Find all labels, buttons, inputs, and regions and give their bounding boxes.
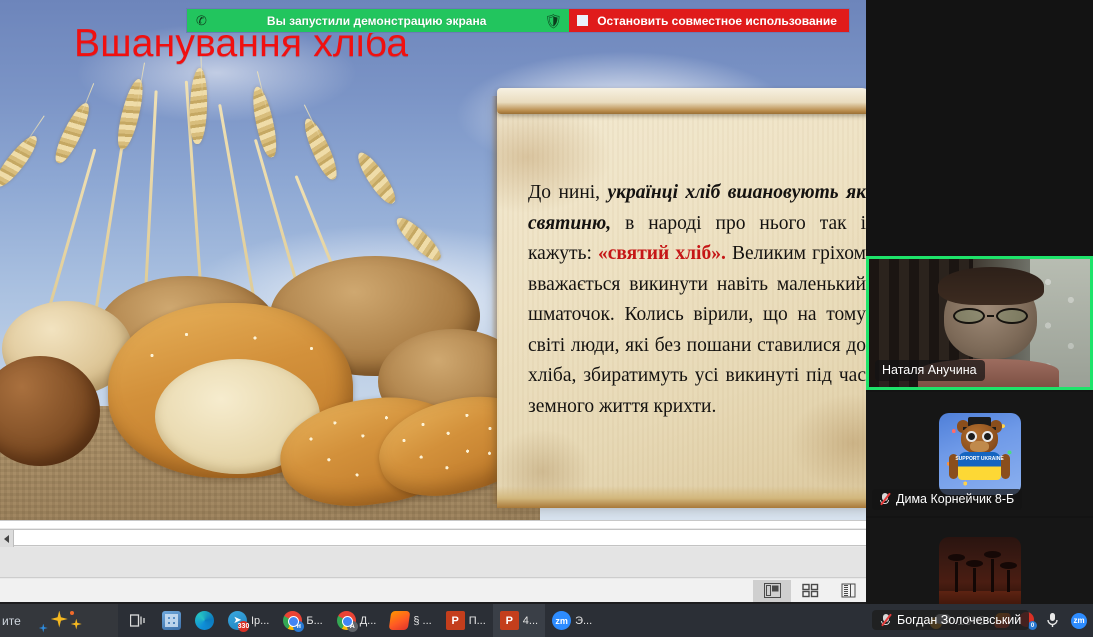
powerpoint-icon: P bbox=[500, 611, 519, 630]
normal-view-icon bbox=[764, 583, 781, 598]
parchment-bottom-edge bbox=[497, 486, 868, 508]
view-buttons bbox=[753, 580, 867, 602]
edge-icon bbox=[195, 611, 214, 630]
stop-square-icon bbox=[577, 15, 588, 26]
taskbar-item-calculator[interactable] bbox=[155, 604, 188, 637]
parchment-top-curl bbox=[497, 88, 868, 114]
calculator-icon bbox=[162, 611, 181, 630]
powerpoint-icon: P bbox=[446, 611, 465, 630]
taskbar-item-firefox[interactable]: § ... bbox=[383, 604, 438, 637]
task-view-icon bbox=[129, 611, 148, 630]
telegram-icon: 330 bbox=[228, 611, 247, 630]
reading-view-button[interactable] bbox=[829, 580, 867, 602]
slide-sorter-icon bbox=[802, 583, 819, 598]
chrome-icon: А bbox=[337, 611, 356, 630]
telegram-badge: 330 bbox=[238, 621, 249, 632]
body-run-1: До нині, bbox=[528, 182, 607, 203]
normal-view-button[interactable] bbox=[753, 580, 791, 602]
zoom-icon: zm bbox=[552, 611, 571, 630]
taskbar-item-label: Д... bbox=[360, 615, 377, 627]
floating-participant-name: Богдан Золочевський bbox=[897, 613, 1021, 627]
participant-name-badge: Дима Корнейчик 8-Б bbox=[872, 489, 1022, 510]
phone-icon: ✆ bbox=[196, 14, 207, 27]
slide-body-text: До нині, українці хліб вшановують як свя… bbox=[528, 178, 866, 422]
taskbar-app-buttons: 330 Ір... н Б... А Д... § ... bbox=[122, 604, 599, 637]
firefox-icon bbox=[389, 611, 411, 630]
body-run-4-highlight: «святий хліб». bbox=[598, 243, 726, 264]
slide-sorter-button[interactable] bbox=[791, 580, 829, 602]
taskbar-floating-participant-name: Богдан Золочевський bbox=[872, 610, 1029, 630]
taskbar-item-label: П... bbox=[469, 615, 486, 627]
taskbar-item-chrome-1[interactable]: н Б... bbox=[276, 604, 329, 637]
taskbar-item-chrome-2[interactable]: А Д... bbox=[330, 604, 384, 637]
zoom-tray-icon[interactable]: zm bbox=[1071, 613, 1087, 629]
mic-muted-icon bbox=[879, 492, 890, 506]
slide[interactable]: До нині, українці хліб вшановують як свя… bbox=[0, 0, 868, 521]
chrome-icon: н bbox=[283, 611, 302, 630]
microphone-icon[interactable] bbox=[1045, 612, 1062, 629]
notification-badge: 0 bbox=[1028, 621, 1037, 630]
popup-text: ите bbox=[0, 614, 21, 628]
zoom-participant-rail: Наталя Анучина SUPPORT UKRAINE bbox=[866, 0, 1093, 637]
chrome-badge: н bbox=[293, 621, 304, 632]
taskbar-item-label: Ір... bbox=[251, 615, 269, 627]
taskbar-item-powerpoint-1[interactable]: P П... bbox=[439, 604, 493, 637]
screen-share-toolbar: ✆ Вы запустили демонстрацию экрана 🛡 Ост… bbox=[186, 8, 850, 33]
participant-tile-2[interactable]: SUPPORT UKRAINE Дима Корнейчик 8-Б bbox=[866, 392, 1093, 516]
taskbar-item-label: 4... bbox=[523, 615, 538, 627]
fnaf-bear-support-ukraine-avatar: SUPPORT UKRAINE bbox=[939, 413, 1021, 495]
participant-name-badge: Наталя Анучина bbox=[875, 360, 985, 381]
body-run-5: Великим гріхом вважається викинути навіт… bbox=[528, 243, 866, 417]
stop-sharing-label: Остановить совместное использование bbox=[597, 14, 837, 28]
chrome-badge: А bbox=[347, 621, 358, 632]
bread-illustration bbox=[0, 226, 540, 521]
scroll-left-arrow-icon[interactable] bbox=[0, 530, 14, 547]
participant-tile-active-speaker[interactable]: Наталя Анучина bbox=[866, 256, 1093, 390]
sharing-status-pill[interactable]: ✆ Вы запустили демонстрацию экрана 🛡 bbox=[186, 8, 569, 33]
rail-empty-area bbox=[866, 0, 1093, 255]
person-hair bbox=[938, 267, 1044, 305]
taskbar-item-telegram[interactable]: 330 Ір... bbox=[221, 604, 276, 637]
taskbar-left-popup[interactable]: ите bbox=[0, 604, 118, 637]
taskbar-item-label: § ... bbox=[413, 615, 431, 627]
reading-view-icon bbox=[840, 583, 857, 598]
participant-name: Наталя Анучина bbox=[882, 363, 977, 377]
mic-muted-icon bbox=[880, 613, 891, 627]
stop-sharing-button[interactable]: Остановить совместное использование bbox=[569, 8, 850, 33]
taskbar-item-label: Б... bbox=[306, 615, 322, 627]
avatar-shirt-text: SUPPORT UKRAINE bbox=[939, 456, 1021, 462]
participant-name: Дима Корнейчик 8-Б bbox=[896, 492, 1014, 506]
screen: До нині, українці хліб вшановують як свя… bbox=[0, 0, 1093, 637]
sharing-status-label: Вы запустили демонстрацию экрана bbox=[207, 14, 545, 28]
taskbar-item-powerpoint-2[interactable]: P 4... bbox=[493, 604, 545, 637]
sparkle-icon bbox=[37, 610, 95, 632]
glasses-icon bbox=[953, 308, 1028, 325]
taskbar-item-zoom[interactable]: zm Э... bbox=[545, 604, 599, 637]
taskbar-item-task-view[interactable] bbox=[122, 604, 155, 637]
shield-check-icon[interactable]: 🛡 bbox=[544, 14, 562, 28]
taskbar-item-label: Э... bbox=[575, 615, 592, 627]
taskbar-item-edge[interactable] bbox=[188, 604, 221, 637]
